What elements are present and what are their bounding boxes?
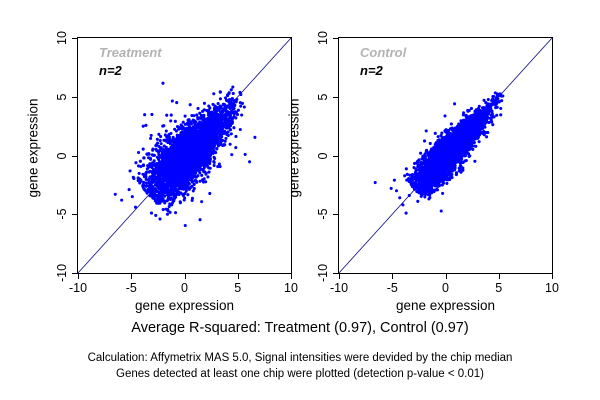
x-tick-label-0-2: 0 xyxy=(181,281,188,295)
x-tick-label-0-0: -10 xyxy=(69,281,87,295)
y-tick-label-1-4: 10 xyxy=(316,31,330,45)
y-axis-title-treatment: gene expression xyxy=(26,98,41,197)
y-tick-label-1-0: -10 xyxy=(316,264,330,282)
x-tick-0-2 xyxy=(185,274,186,279)
y-tick-label-0-1: -5 xyxy=(55,209,69,220)
y-tick-0-4 xyxy=(72,38,77,39)
caption-r-squared: Average R-squared: Treatment (0.97), Con… xyxy=(0,320,600,336)
y-tick-0-2 xyxy=(72,156,77,157)
x-tick-label-1-2: 0 xyxy=(442,281,449,295)
panel-n-treatment: n=2 xyxy=(99,63,122,78)
x-tick-label-0-3: 5 xyxy=(234,281,241,295)
x-tick-1-0 xyxy=(339,274,340,279)
y-tick-0-1 xyxy=(72,214,77,215)
y-tick-1-4 xyxy=(333,38,338,39)
y-tick-1-3 xyxy=(333,97,338,98)
x-tick-0-1 xyxy=(131,274,132,279)
panel-title-treatment: Treatment xyxy=(99,45,162,60)
y-tick-0-0 xyxy=(72,273,77,274)
y-tick-1-2 xyxy=(333,156,338,157)
x-tick-1-2 xyxy=(446,274,447,279)
x-tick-label-1-1: -5 xyxy=(387,281,398,295)
x-tick-label-0-4: 10 xyxy=(284,281,298,295)
panel-n-control: n=2 xyxy=(360,63,383,78)
x-tick-label-1-0: -10 xyxy=(330,281,348,295)
x-tick-0-3 xyxy=(238,274,239,279)
y-tick-label-0-3: 5 xyxy=(55,93,69,100)
x-tick-1-1 xyxy=(392,274,393,279)
y-tick-label-1-1: -5 xyxy=(316,209,330,220)
y-tick-label-0-4: 10 xyxy=(55,31,69,45)
x-tick-1-4 xyxy=(552,274,553,279)
x-tick-label-1-3: 5 xyxy=(495,281,502,295)
panel-title-control: Control xyxy=(360,45,406,60)
y-tick-label-0-0: -10 xyxy=(55,264,69,282)
y-tick-1-1 xyxy=(333,214,338,215)
x-axis-title-treatment: gene expression xyxy=(135,298,234,313)
y-tick-1-0 xyxy=(333,273,338,274)
y-tick-0-3 xyxy=(72,97,77,98)
figure-root: Treatment n=2 gene expression gene expre… xyxy=(0,0,600,400)
caption-detection: Genes detected at least one chip were pl… xyxy=(0,368,600,380)
y-axis-title-control: gene expression xyxy=(287,98,302,197)
x-tick-label-1-4: 10 xyxy=(545,281,559,295)
x-tick-0-0 xyxy=(78,274,79,279)
y-tick-label-1-2: 0 xyxy=(316,152,330,159)
y-tick-label-1-3: 5 xyxy=(316,93,330,100)
x-tick-0-4 xyxy=(291,274,292,279)
x-tick-label-0-1: -5 xyxy=(126,281,137,295)
y-tick-label-0-2: 0 xyxy=(55,152,69,159)
x-axis-title-control: gene expression xyxy=(396,298,495,313)
caption-calculation: Calculation: Affymetrix MAS 5.0, Signal … xyxy=(0,352,600,364)
x-tick-1-3 xyxy=(499,274,500,279)
